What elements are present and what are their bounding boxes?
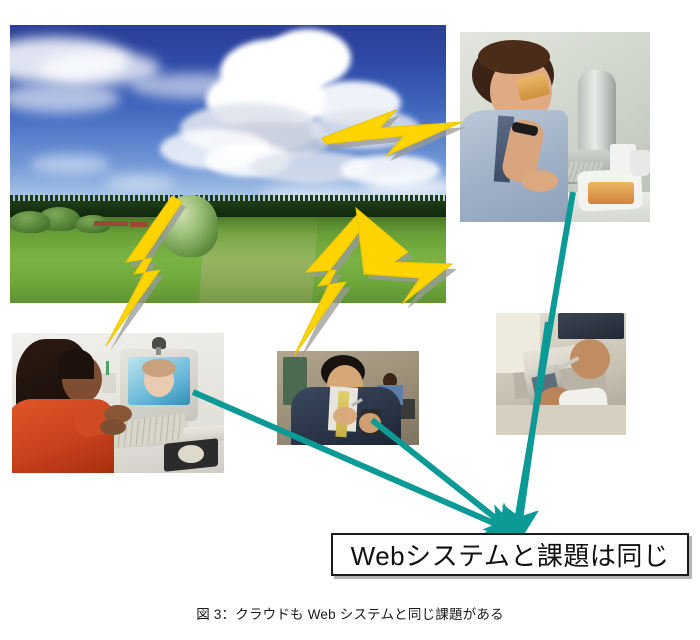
pen-cup (102, 373, 116, 393)
conclusion-callout-text: Webシステムと課題は同じ (351, 536, 670, 573)
lightning-bolt-lower-right (356, 208, 516, 338)
hand (359, 413, 381, 433)
seat-surface (496, 405, 626, 435)
sandwich-on-napkin (588, 182, 634, 204)
computer-mouse (178, 445, 204, 463)
man-eating-at-computer-photo (460, 32, 650, 222)
conclusion-callout-box: Webシステムと課題は同じ (331, 533, 689, 576)
screen-face-hair (142, 359, 176, 377)
laptop (558, 313, 624, 339)
hand (522, 170, 558, 192)
hand (100, 419, 126, 435)
hair (478, 40, 550, 74)
cloud-wisp (105, 175, 175, 191)
figure-canvas: Webシステムと課題は同じ 図 3：クラウドも Web システムと同じ課題がある (0, 0, 700, 640)
pen (106, 361, 109, 375)
hand-holding-stylus (333, 407, 357, 425)
figure-caption: 図 3：クラウドも Web システムと同じ課題がある (0, 603, 700, 623)
cloud-wisp (30, 155, 110, 173)
hair-front (58, 349, 94, 379)
lightning-bolt-to-woman (96, 196, 226, 356)
bush (10, 211, 50, 233)
lightning-bolt-to-man (322, 104, 472, 174)
coffee-cup (630, 150, 650, 176)
